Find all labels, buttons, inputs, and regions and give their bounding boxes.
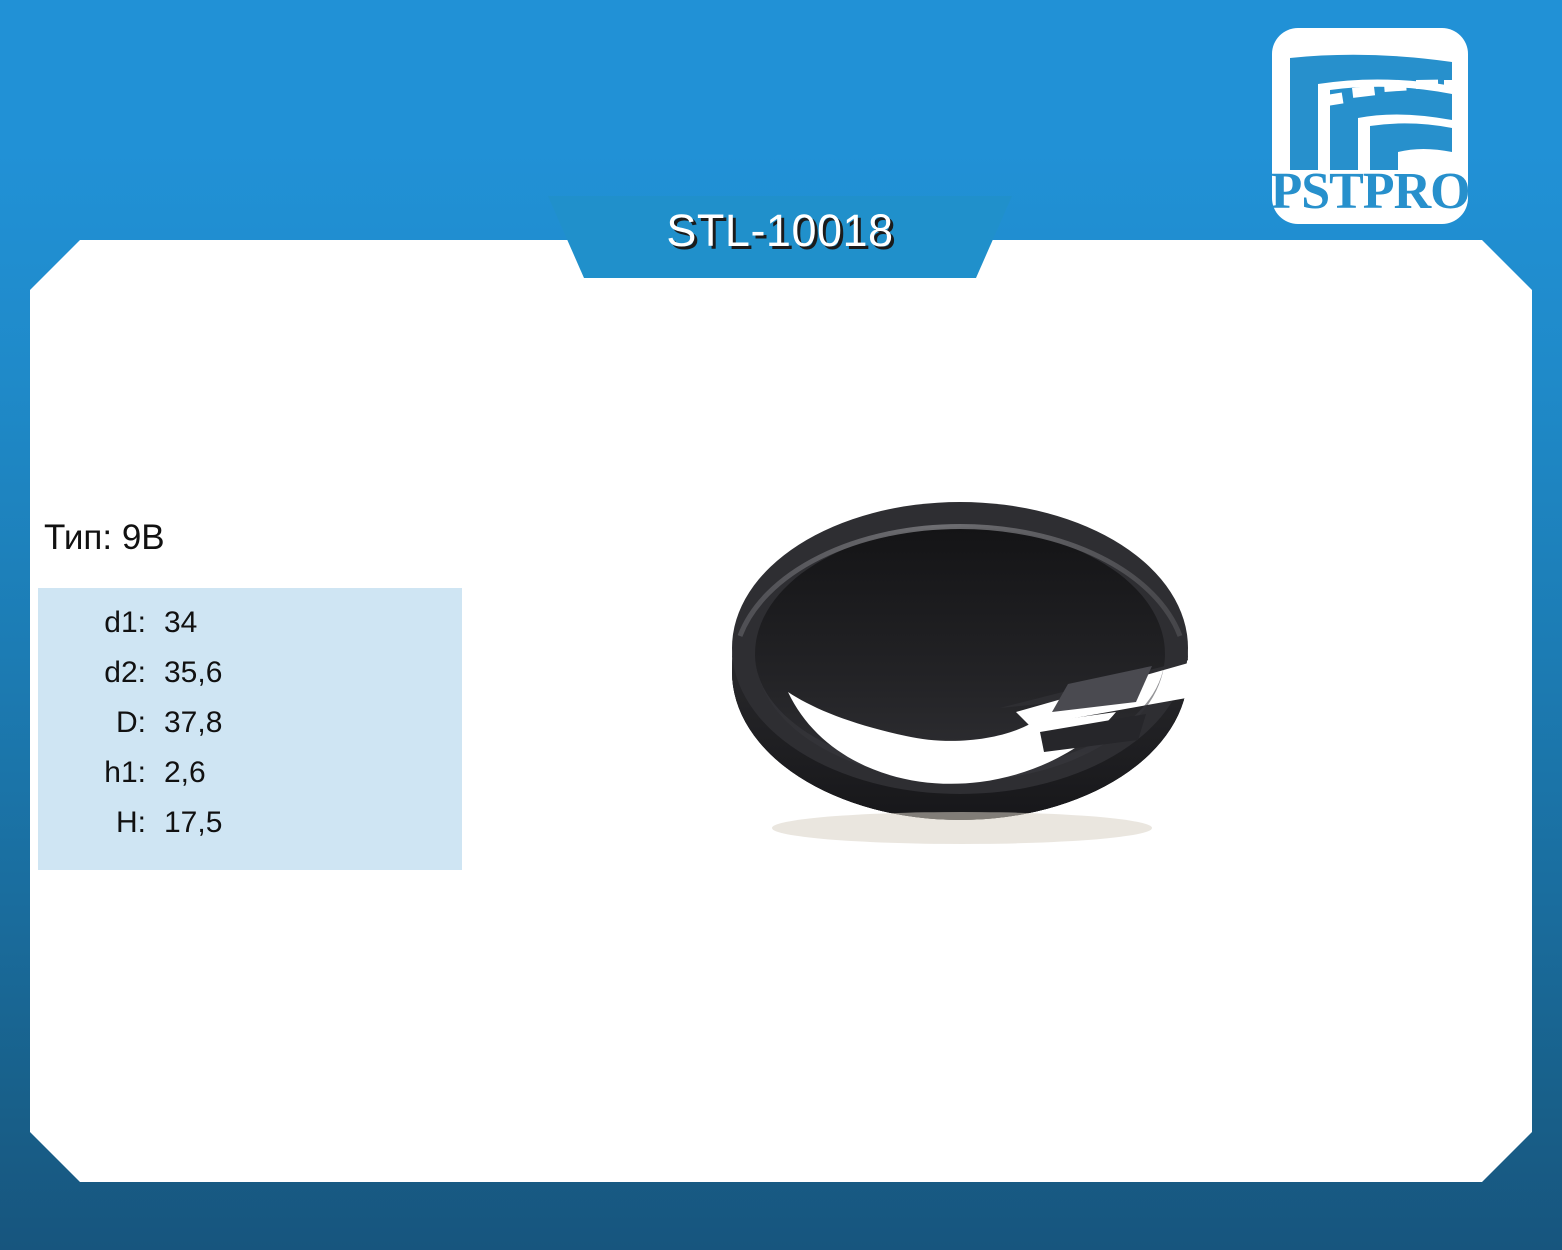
- spec-value: 34: [164, 606, 197, 640]
- spec-value: 35,6: [164, 656, 222, 690]
- spec-label: H:: [60, 806, 164, 840]
- product-shadow: [772, 812, 1152, 844]
- logo-wordmark: PSTPRO: [1272, 163, 1468, 220]
- road-logo-icon: [1290, 55, 1458, 170]
- table-row: h1: 2,6: [60, 756, 462, 806]
- table-row: d1: 34: [60, 606, 462, 656]
- type-value: 9B: [122, 518, 165, 557]
- spec-label: h1:: [60, 756, 164, 790]
- product-spec-card: STL-10018 PSTPRO Тип: 9B: [0, 0, 1562, 1250]
- page-title: STL-10018: [548, 196, 1012, 266]
- specifications-table: d1: 34 d2: 35,6 D: 37,8 h1: 2,6 H: 17,5: [38, 588, 462, 870]
- spec-value: 37,8: [164, 706, 222, 740]
- spec-label: d2:: [60, 656, 164, 690]
- table-row: D: 37,8: [60, 706, 462, 756]
- spec-label: d1:: [60, 606, 164, 640]
- spec-value: 2,6: [164, 756, 206, 790]
- type-label: Тип:: [44, 518, 112, 557]
- product-type-line: Тип: 9B: [44, 518, 165, 558]
- brand-logo: PSTPRO: [1272, 28, 1468, 224]
- spec-value: 17,5: [164, 806, 222, 840]
- table-row: H: 17,5: [60, 806, 462, 856]
- product-image: [700, 440, 1220, 950]
- table-row: d2: 35,6: [60, 656, 462, 706]
- spec-label: D:: [60, 706, 164, 740]
